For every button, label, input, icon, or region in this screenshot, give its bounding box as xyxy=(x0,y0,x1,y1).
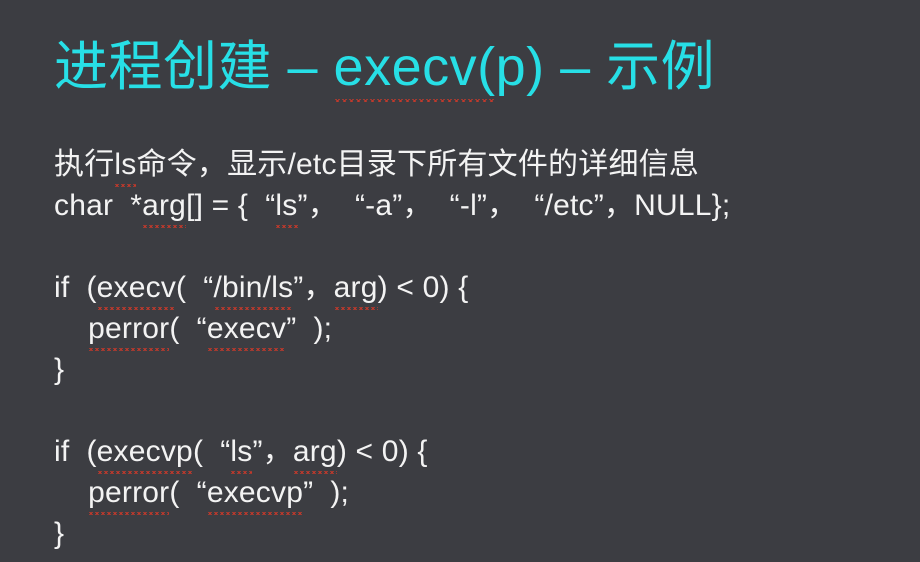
line-close-brace-1: } xyxy=(54,349,894,390)
line-char-arg: char *arg[] = { “ls”， “-a”， “-l”， “/etc”… xyxy=(54,185,894,226)
line-perror-execv-text-0 xyxy=(54,312,88,345)
line-if-execv-misspelled-5: arg xyxy=(334,267,378,311)
line-description-misspelled-1: ls xyxy=(114,144,136,188)
line-blank-1 xyxy=(54,226,894,267)
line-if-execv-text-0: if ( xyxy=(54,271,97,304)
presentation-slide: 进程创建 – execv(p) – 示例 执行ls命令，显示/etc目录下所有文… xyxy=(0,0,920,562)
line-perror-execv-misspelled-3: execv xyxy=(207,308,286,352)
line-if-execv-text-2: ( “ xyxy=(176,271,213,304)
line-if-execvp-text-4: ”， xyxy=(252,435,292,468)
line-perror-execvp-text-2: ( “ xyxy=(169,476,206,509)
line-perror-execv: perror( “execv” ); xyxy=(54,308,894,349)
line-if-execvp-text-0: if ( xyxy=(54,435,97,468)
line-if-execv-misspelled-3: /bin/ls xyxy=(214,267,294,311)
line-char-arg-text-2: [] = { “ xyxy=(186,189,275,222)
line-char-arg-text-0: char * xyxy=(54,189,142,222)
line-close-brace-2: } xyxy=(54,513,894,554)
line-close-brace-1-text-0: } xyxy=(54,353,64,386)
title-text-0: 进程创建 – xyxy=(54,37,334,97)
line-if-execv-misspelled-1: execv xyxy=(97,267,176,311)
title-misspelled-1: execv( xyxy=(334,36,496,102)
line-if-execvp-misspelled-3: ls xyxy=(230,431,252,475)
line-description-text-2: 命令，显示/etc目录下所有文件的详细信息 xyxy=(136,148,699,181)
line-if-execv-text-6: ) < 0) { xyxy=(378,271,469,304)
line-perror-execvp-text-0 xyxy=(54,476,88,509)
line-if-execvp-text-2: ( “ xyxy=(193,435,230,468)
line-char-arg-misspelled-3: ls xyxy=(275,185,297,229)
line-char-arg-text-4: ”， “-a”， “-l”， “/etc”，NULL}; xyxy=(298,189,731,222)
title-text-2: p) – 示例 xyxy=(496,37,716,97)
line-description-text-0: 执行 xyxy=(54,148,114,181)
line-if-execv: if (execv( “/bin/ls”，arg) < 0) { xyxy=(54,267,894,308)
line-if-execv-text-4: ”， xyxy=(293,271,333,304)
line-perror-execvp-text-4: ” ); xyxy=(303,476,349,509)
line-description: 执行ls命令，显示/etc目录下所有文件的详细信息 xyxy=(54,144,894,185)
line-perror-execv-misspelled-1: perror xyxy=(88,308,169,352)
line-perror-execv-text-2: ( “ xyxy=(169,312,206,345)
line-if-execvp: if (execvp( “ls”，arg) < 0) { xyxy=(54,431,894,472)
line-char-arg-misspelled-1: arg xyxy=(142,185,186,229)
line-perror-execvp-misspelled-3: execvp xyxy=(207,472,303,516)
line-perror-execvp-misspelled-1: perror xyxy=(88,472,169,516)
line-if-execvp-misspelled-5: arg xyxy=(293,431,337,475)
line-perror-execv-text-4: ” ); xyxy=(286,312,332,345)
slide-title: 进程创建 – execv(p) – 示例 xyxy=(54,36,884,102)
slide-body-content: 执行ls命令，显示/etc目录下所有文件的详细信息char *arg[] = {… xyxy=(54,144,894,554)
line-if-execvp-text-6: ) < 0) { xyxy=(337,435,428,468)
line-perror-execvp: perror( “execvp” ); xyxy=(54,472,894,513)
line-close-brace-2-text-0: } xyxy=(54,517,64,550)
line-if-execvp-misspelled-1: execvp xyxy=(97,431,193,475)
line-blank-2 xyxy=(54,390,894,431)
